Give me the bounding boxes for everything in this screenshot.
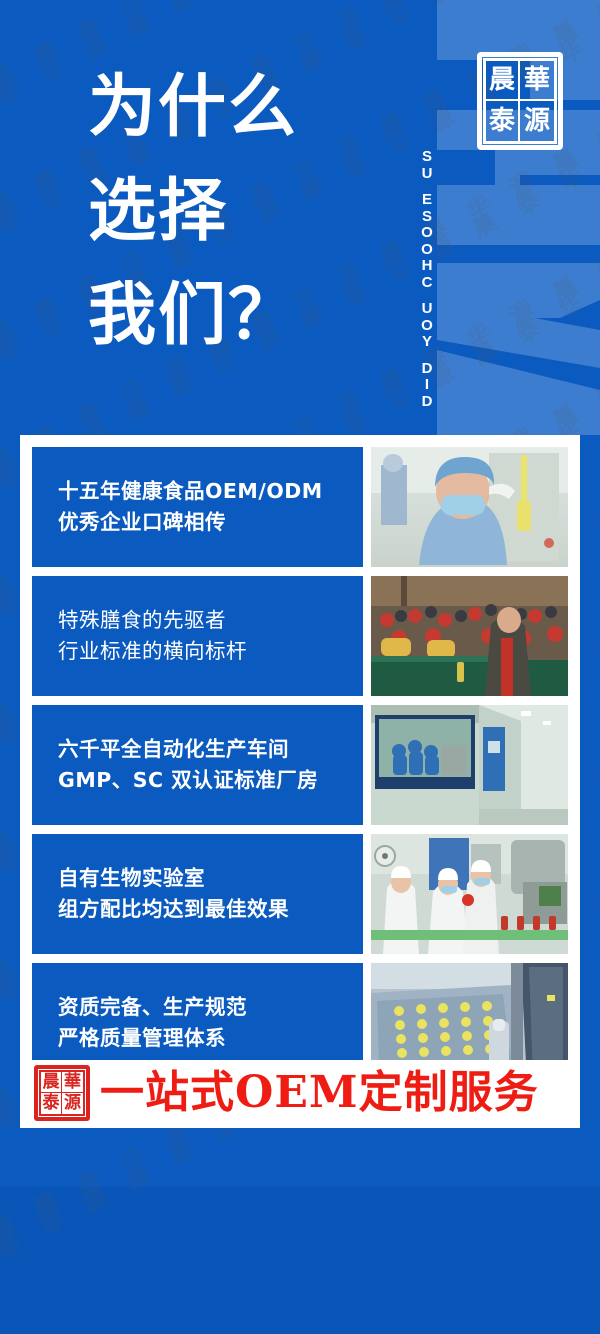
seal-char-4: 源 [520,101,554,141]
tagline-letter: C [422,275,437,292]
title-line-3: 我们？ [88,263,388,367]
seal-char-2: 華 [520,61,554,101]
banner-seal-logo: 晨 華 泰 源 [34,1065,90,1121]
tagline-letter: S [422,209,436,226]
feature-photo-cleanroom-production-corridor [371,705,568,825]
feature-text-line: 组方配比均达到最佳效果 [58,894,363,925]
banner-seal-char-3: 泰 [41,1093,62,1114]
feature-row: 六千平全自动化生产车间GMP、SC 双认证标准厂房 [32,705,568,825]
feature-card: 自有生物实验室组方配比均达到最佳效果 [32,834,363,954]
feature-text-line: 优秀企业口碑相传 [58,507,363,538]
feature-text-line: 资质完备、生产规范 [58,992,363,1023]
title-line-2: 选择 [88,159,388,263]
tagline-letter: U [422,166,437,183]
page-title: 为什么 选择 我们？ [88,55,388,367]
tagline-letter: D [422,361,437,378]
feature-text-line: 自有生物实验室 [58,863,363,894]
content-panel: 十五年健康食品OEM/ODM优秀企业口碑相传 特殊膳食的先驱者行业标准的横向标杆 [20,435,580,1128]
tagline-letter: Y [422,334,436,351]
tagline-letter: H [422,258,437,275]
bottom-banner: 晨 華 泰 源 一站式OEM定制服务 [20,1060,580,1126]
banner-seal-char-2: 華 [62,1072,83,1093]
tagline-letter: O [421,242,437,259]
tagline-letter: S [422,149,436,166]
seal-inner-grid: 晨 華 泰 源 [483,58,557,144]
feature-photo-lab-technician-testing-sample [371,447,568,567]
feature-photo-workers-inspecting-filling-line [371,834,568,954]
tagline-letter: O [421,225,437,242]
tagline-letter: U [422,301,437,318]
feature-text-line: 严格质量管理体系 [58,1023,363,1054]
banner-seal-char-4: 源 [62,1093,83,1114]
seal-char-3: 泰 [486,101,520,141]
feature-card: 十五年健康食品OEM/ODM优秀企业口碑相传 [32,447,363,567]
header-seal-logo: 晨 華 泰 源 [477,52,563,150]
tagline-letter: D [422,394,437,411]
vertical-tagline: DIDYOUCHOOSEUS [412,10,446,410]
tagline-letter: O [421,318,437,335]
feature-text-line: 十五年健康食品OEM/ODM [58,476,363,507]
header-section: 为什么 选择 我们？ DIDYOUCHOOSEUS 晨 華 泰 源 [0,0,600,435]
feature-text-line: 特殊膳食的先驱者 [58,605,363,636]
feature-text-line: 行业标准的横向标杆 [58,636,363,667]
banner-seal-inner-grid: 晨 華 泰 源 [39,1070,85,1116]
seal-char-1: 晨 [486,61,520,101]
feature-text-line: GMP、SC 双认证标准厂房 [58,765,363,796]
feature-card: 六千平全自动化生产车间GMP、SC 双认证标准厂房 [32,705,363,825]
feature-row: 自有生物实验室组方配比均达到最佳效果 [32,834,568,954]
feature-row: 特殊膳食的先驱者行业标准的横向标杆 [32,576,568,696]
feature-text-line: 六千平全自动化生产车间 [58,734,363,765]
title-line-1: 为什么 [88,55,388,159]
feature-row: 十五年健康食品OEM/ODM优秀企业口碑相传 [32,447,568,567]
tagline-letter: E [422,192,436,209]
feature-card: 特殊膳食的先驱者行业标准的横向标杆 [32,576,363,696]
banner-seal-char-1: 晨 [41,1072,62,1093]
banner-slogan: 一站式OEM定制服务 [100,1071,539,1115]
tagline-letter: I [425,377,433,394]
feature-list: 十五年健康食品OEM/ODM优秀企业口碑相传 特殊膳食的先驱者行业标准的横向标杆 [32,447,568,1083]
feature-photo-conference-audience-hall [371,576,568,696]
